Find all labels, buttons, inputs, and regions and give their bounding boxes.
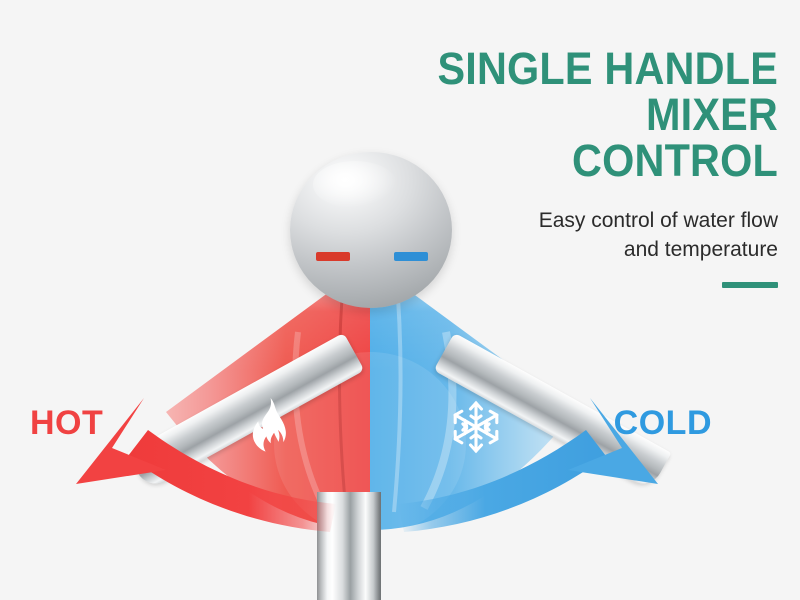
headline-block: SINGLE HANDLE MIXER CONTROL Easy control… — [318, 46, 778, 293]
page-title: SINGLE HANDLE MIXER CONTROL — [355, 46, 778, 184]
cold-label: COLD — [614, 404, 712, 443]
accent-dash — [722, 282, 778, 288]
page-subtitle: Easy control of water flow and temperatu… — [318, 206, 778, 264]
infographic-canvas: SINGLE HANDLE MIXER CONTROL Easy control… — [0, 0, 800, 600]
hot-label: HOT — [30, 404, 103, 443]
hot-rotation-arrow — [76, 398, 336, 532]
